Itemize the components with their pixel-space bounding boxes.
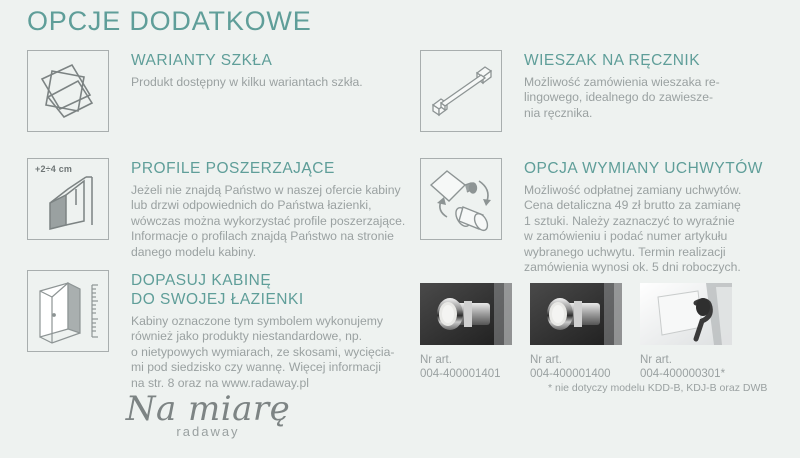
- glass-panes-icon: [27, 50, 109, 132]
- page-title: OPCJE DODATKOWE: [27, 6, 312, 37]
- feature-handle-exchange-text: OPCJA WYMIANY UCHWYTÓW Możliwość odpłatn…: [524, 158, 763, 275]
- feature-body: Możliwość odpłatnej zamiany uchwytów. Ce…: [524, 183, 763, 275]
- feature-title: OPCJA WYMIANY UCHWYTÓW: [524, 159, 763, 178]
- feature-title: WIESZAK NA RĘCZNIK: [524, 51, 720, 70]
- product-caption: Nr art. 004-400000301*: [640, 353, 732, 381]
- towel-rail-icon: [420, 50, 502, 132]
- widening-profile-icon: +2÷4 cm: [27, 158, 109, 240]
- feature-glass-variants: WARIANTY SZKŁA Produkt dostępny w kilku …: [27, 50, 363, 132]
- knob-handle-chrome-dark-photo-2: [530, 283, 622, 345]
- feature-handle-exchange: OPCJA WYMIANY UCHWYTÓW Możliwość odpłatn…: [420, 158, 763, 275]
- page-root: OPCJE DODATKOWE WARIANTY SZKŁA Produkt d…: [0, 0, 800, 458]
- logo-script-text: Na miarę: [118, 390, 298, 428]
- feature-title: WARIANTY SZKŁA: [131, 51, 363, 70]
- feature-title: DOPASUJ KABINĘ DO SWOJEJ ŁAZIENKI: [131, 271, 394, 309]
- profile-measure-label: +2÷4 cm: [35, 164, 72, 174]
- feature-towel-rail-text: WIESZAK NA RĘCZNIK Możliwość zamówienia …: [524, 50, 720, 121]
- feature-glass-text: WARIANTY SZKŁA Produkt dostępny w kilku …: [131, 50, 363, 90]
- hook-handle-white-photo: [640, 283, 732, 345]
- feature-title: PROFILE POSZERZAJĄCE: [131, 159, 405, 178]
- feature-body: Możliwość zamówienia wieszaka re- lingow…: [524, 75, 720, 121]
- feature-custom-fit-text: DOPASUJ KABINĘ DO SWOJEJ ŁAZIENKI Kabiny…: [131, 270, 394, 391]
- feature-body: Kabiny oznaczone tym symbolem wykonujemy…: [131, 314, 394, 391]
- feature-custom-fit: DOPASUJ KABINĘ DO SWOJEJ ŁAZIENKI Kabiny…: [27, 270, 394, 391]
- products-footnote: * nie dotyczy modelu KDD-B, KDJ-B oraz D…: [548, 382, 767, 394]
- product-caption: Nr art. 004-400001401: [420, 353, 512, 381]
- feature-towel-rail: WIESZAK NA RĘCZNIK Możliwość zamówienia …: [420, 50, 720, 132]
- knob-handle-chrome-dark-photo: [420, 283, 512, 345]
- product-item: Nr art. 004-400001401: [420, 283, 512, 381]
- feature-body: Produkt dostępny w kilku wariantach szkł…: [131, 75, 363, 90]
- cabin-with-ruler-icon: [27, 270, 109, 352]
- feature-widening-profiles: +2÷4 cm PROFILE POSZERZAJĄCE Jeżeli nie …: [27, 158, 405, 260]
- feature-body: Jeżeli nie znajdą Państwo w naszej oferc…: [131, 183, 405, 260]
- product-item: Nr art. 004-400001400: [530, 283, 622, 381]
- feature-profiles-text: PROFILE POSZERZAJĄCE Jeżeli nie znajdą P…: [131, 158, 405, 260]
- na-miare-logo: Na miarę radaway: [118, 390, 298, 439]
- product-thumbnails: Nr art. 004-400001401 Nr art. 004-400001…: [420, 283, 732, 381]
- product-item: Nr art. 004-400000301*: [640, 283, 732, 381]
- handle-exchange-icon: [420, 158, 502, 240]
- product-caption: Nr art. 004-400001400: [530, 353, 622, 381]
